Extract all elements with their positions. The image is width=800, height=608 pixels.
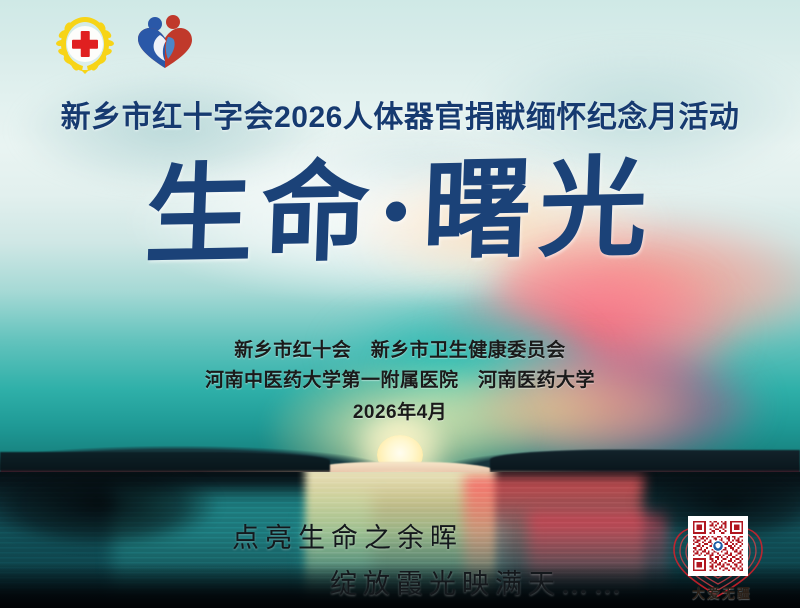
poem-line-2: 绽放霞光映满天…… xyxy=(330,562,627,601)
qr-code-image[interactable] xyxy=(688,516,748,576)
page-title: 新乡市红十字会2026人体器官捐献缅怀纪念月活动 xyxy=(0,92,800,136)
donation-heart-icon xyxy=(134,15,196,73)
organ-donation-emblem-icon xyxy=(134,15,196,73)
red-cross-emblem-icon xyxy=(54,14,116,74)
poem-line-1: 点亮生命之余晖 xyxy=(232,516,463,555)
organizer-line-1: 新乡市红十会 新乡市卫生健康委员会 xyxy=(0,336,800,366)
qr-code-block[interactable]: 大爱无疆 xyxy=(658,506,786,604)
main-title-calligraphy: 生命·曙光 xyxy=(0,143,800,281)
qr-caption: 大爱无疆 xyxy=(658,583,786,602)
poster-canvas: 新乡市红十字会2026人体器官捐献缅怀纪念月活动 生命·曙光 新乡市红十会 新乡… xyxy=(0,0,800,608)
organizer-line-2: 河南中医药大学第一附属医院 河南医药大学 xyxy=(0,366,800,396)
red-cross-icon xyxy=(72,31,98,57)
logo-row xyxy=(54,14,196,74)
qr-matrix xyxy=(691,519,745,573)
event-date: 2026年4月 xyxy=(0,398,800,428)
organizer-block: 新乡市红十会 新乡市卫生健康委员会 河南中医药大学第一附属医院 河南医药大学 2… xyxy=(0,336,800,428)
